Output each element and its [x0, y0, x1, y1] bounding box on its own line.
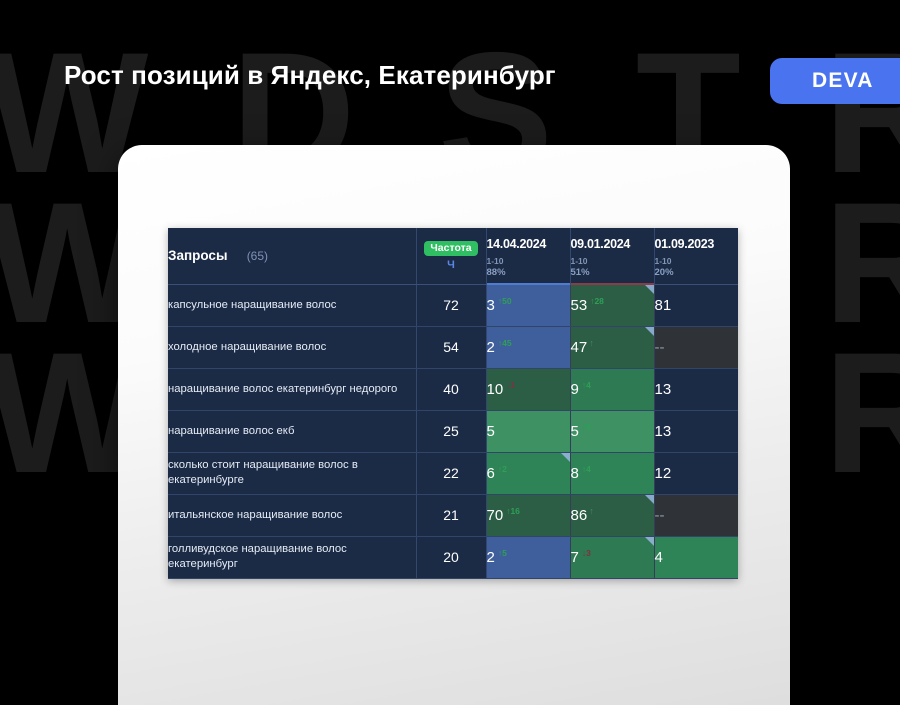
brand-badge: DEVA	[770, 58, 900, 104]
cell-position[interactable]: 3↑50	[486, 284, 570, 326]
cell-position[interactable]: 13	[654, 368, 738, 410]
position-value: 5	[571, 423, 579, 440]
position-value: 5	[487, 423, 495, 440]
position-value: 53	[571, 297, 588, 314]
range-label: 1-10	[655, 256, 739, 267]
cell-query[interactable]: холодное наращивание волос	[168, 326, 416, 368]
position-delta: ↑4	[582, 464, 591, 474]
range-label: 1-10	[487, 256, 570, 267]
cell-position[interactable]: 4	[654, 536, 738, 578]
cell-position[interactable]: 12	[654, 452, 738, 494]
position-value: 4	[655, 549, 663, 566]
cell-position[interactable]: --	[654, 494, 738, 536]
trend-arrow-icon: ↑	[589, 338, 594, 348]
cell-frequency: 54	[416, 326, 486, 368]
position-delta: ↓3	[582, 548, 591, 558]
cell-query[interactable]: наращивание волос екатеринбург недорого	[168, 368, 416, 410]
position-delta: ↓1	[506, 380, 515, 390]
cell-position[interactable]: 81	[654, 284, 738, 326]
cell-corner-marker-icon	[645, 537, 654, 546]
keyword-table-container: Запросы (65) Частота Ч 14.04.2024 1-10 8…	[168, 228, 738, 579]
cell-frequency: 40	[416, 368, 486, 410]
position-value: 70	[487, 507, 504, 524]
cell-frequency: 20	[416, 536, 486, 578]
cell-corner-marker-icon	[645, 327, 654, 336]
column-header-date-0[interactable]: 14.04.2024 1-10 88%	[486, 228, 570, 284]
position-value: 13	[655, 423, 672, 440]
cell-corner-marker-icon	[561, 453, 570, 462]
page-header: Рост позиций в Яндекс, Екатеринбург DEVA	[0, 0, 900, 145]
cell-corner-marker-icon	[645, 495, 654, 504]
cell-query[interactable]: наращивание волос екб	[168, 410, 416, 452]
position-delta: ↑50	[498, 296, 512, 306]
watermark-letter: R	[824, 338, 900, 488]
cell-position[interactable]: 70↑16	[486, 494, 570, 536]
cell-query[interactable]: итальянское наращивание волос	[168, 494, 416, 536]
percent-label: 88%	[487, 267, 570, 278]
position-delta: ↑45	[498, 338, 512, 348]
cell-frequency: 25	[416, 410, 486, 452]
position-delta: ↑8	[582, 422, 591, 432]
position-value: 13	[655, 381, 672, 398]
device-card: Запросы (65) Частота Ч 14.04.2024 1-10 8…	[118, 145, 790, 705]
position-value: 10	[487, 381, 504, 398]
position-value: 3	[487, 297, 495, 314]
position-delta: ↑4	[582, 380, 591, 390]
position-value: --	[655, 339, 665, 356]
column-header-frequency[interactable]: Частота Ч	[416, 228, 486, 284]
position-value: 9	[571, 381, 579, 398]
date-label: 01.09.2023	[655, 237, 739, 251]
table-row[interactable]: сколько стоит наращивание волос в екатер…	[168, 452, 738, 494]
cell-query[interactable]: капсульное наращивание волос	[168, 284, 416, 326]
cell-position[interactable]: 7↓3	[570, 536, 654, 578]
cell-position[interactable]: 5	[486, 410, 570, 452]
cell-position[interactable]: 47↑	[570, 326, 654, 368]
cell-frequency: 21	[416, 494, 486, 536]
cell-position[interactable]: 86↑	[570, 494, 654, 536]
trend-arrow-icon: ↑	[589, 506, 594, 516]
cell-position[interactable]: 2↑45	[486, 326, 570, 368]
position-value: 6	[487, 465, 495, 482]
watermark-letter: R	[824, 188, 900, 338]
date-label: 14.04.2024	[487, 237, 570, 251]
position-delta: ↑16	[506, 506, 520, 516]
position-value: 8	[571, 465, 579, 482]
frequency-sub-label: Ч	[447, 259, 455, 271]
cell-query[interactable]: голливудское наращивание волос екатеринб…	[168, 536, 416, 578]
position-value: 2	[487, 549, 495, 566]
queries-label: Запросы	[168, 248, 227, 263]
position-value: 2	[487, 339, 495, 356]
table-row[interactable]: наращивание волос екб2555↑813	[168, 410, 738, 452]
table-header: Запросы (65) Частота Ч 14.04.2024 1-10 8…	[168, 228, 738, 284]
percent-label: 20%	[655, 267, 739, 278]
position-delta: ↑5	[498, 548, 507, 558]
table-row[interactable]: итальянское наращивание волос2170↑1686↑-…	[168, 494, 738, 536]
cell-frequency: 22	[416, 452, 486, 494]
queries-count: (65)	[247, 249, 268, 263]
table-body: капсульное наращивание волос723↑5053↑288…	[168, 284, 738, 578]
position-value: 47	[571, 339, 588, 356]
cell-position[interactable]: 9↑4	[570, 368, 654, 410]
cell-query[interactable]: сколько стоит наращивание волос в екатер…	[168, 452, 416, 494]
cell-position[interactable]: 13	[654, 410, 738, 452]
frequency-badge: Частота	[424, 241, 477, 257]
table-header-row: Запросы (65) Частота Ч 14.04.2024 1-10 8…	[168, 228, 738, 284]
position-value: 86	[571, 507, 588, 524]
cell-position[interactable]: 2↑5	[486, 536, 570, 578]
position-value: 7	[571, 549, 579, 566]
cell-position[interactable]: 6↑2	[486, 452, 570, 494]
position-value: 81	[655, 297, 672, 314]
keyword-positions-table: Запросы (65) Частота Ч 14.04.2024 1-10 8…	[168, 228, 738, 579]
table-row[interactable]: капсульное наращивание волос723↑5053↑288…	[168, 284, 738, 326]
cell-position[interactable]: 53↑28	[570, 284, 654, 326]
table-row[interactable]: наращивание волос екатеринбург недорого4…	[168, 368, 738, 410]
cell-position[interactable]: 10↓1	[486, 368, 570, 410]
column-header-date-2[interactable]: 01.09.2023 1-10 20%	[654, 228, 738, 284]
cell-corner-marker-icon	[645, 285, 654, 294]
percent-label: 51%	[571, 267, 654, 278]
position-delta: ↑28	[590, 296, 604, 306]
table-row[interactable]: голливудское наращивание волос екатеринб…	[168, 536, 738, 578]
cell-frequency: 72	[416, 284, 486, 326]
range-label: 1-10	[571, 256, 654, 267]
cell-position[interactable]: 5↑8	[570, 410, 654, 452]
date-label: 09.01.2024	[571, 237, 654, 251]
position-delta: ↑2	[498, 464, 507, 474]
position-value: 12	[655, 465, 672, 482]
cell-position[interactable]: --	[654, 326, 738, 368]
column-header-queries[interactable]: Запросы (65)	[168, 228, 416, 284]
cell-position[interactable]: 8↑4	[570, 452, 654, 494]
position-value: --	[655, 507, 665, 524]
page-title: Рост позиций в Яндекс, Екатеринбург	[64, 60, 556, 91]
table-row[interactable]: холодное наращивание волос542↑4547↑--	[168, 326, 738, 368]
column-header-date-1[interactable]: 09.01.2024 1-10 51%	[570, 228, 654, 284]
